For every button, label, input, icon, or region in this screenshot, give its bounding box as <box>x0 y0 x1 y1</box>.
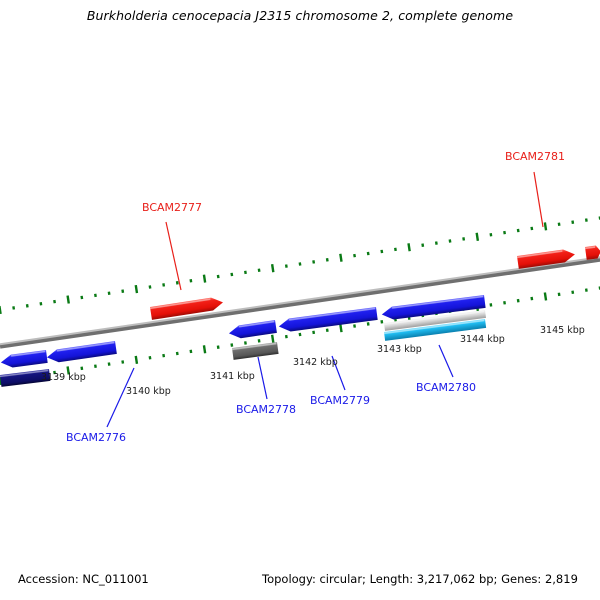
tick-minor <box>353 254 356 258</box>
gene-arrow-blue-bcam2778[interactable] <box>228 320 277 340</box>
tick-major <box>135 285 139 293</box>
gene-arrow-blue-bcam2776b[interactable] <box>46 341 117 364</box>
tick-major <box>135 356 139 364</box>
gene-label-bcam2778[interactable]: BCAM2778 <box>236 403 296 416</box>
tick-major <box>203 345 207 353</box>
gene-label-bcam2777[interactable]: BCAM2777 <box>142 201 202 214</box>
tick-minor <box>176 352 179 356</box>
tick-minor <box>26 304 29 308</box>
tick-minor <box>312 331 315 335</box>
gene-label-bcam2780[interactable]: BCAM2780 <box>416 381 476 394</box>
tick-major <box>66 295 70 303</box>
tick-major <box>203 275 207 283</box>
tick-minor <box>121 289 124 293</box>
tick-minor <box>558 223 561 227</box>
tick-minor <box>189 279 192 283</box>
tick-minor <box>258 269 261 273</box>
tick-major <box>271 264 275 272</box>
tick-minor <box>585 288 588 292</box>
tick-minor <box>39 302 42 306</box>
gene-arrow-red-partial[interactable] <box>585 245 600 260</box>
leader-line-bcam2778 <box>258 357 267 399</box>
tick-minor <box>299 262 302 266</box>
tick-minor <box>285 264 288 268</box>
tick-minor <box>312 260 315 264</box>
tick-minor <box>503 301 506 305</box>
tick-minor <box>517 299 520 303</box>
tick-minor <box>326 329 329 333</box>
gene-arrow-blue-bcam2776a[interactable] <box>0 350 48 369</box>
tick-minor <box>394 248 397 252</box>
coord-label-3141: 3141 kbp <box>210 371 255 382</box>
tick-major <box>544 292 548 300</box>
coord-label-3139: 3139 kbp <box>41 372 86 383</box>
gene-label-bcam2779[interactable]: BCAM2779 <box>310 394 370 407</box>
tick-minor <box>162 354 165 358</box>
tick-minor <box>121 360 124 364</box>
tick-minor <box>558 293 561 297</box>
tick-minor <box>149 285 152 289</box>
genome-stats-text: Topology: circular; Length: 3,217,062 bp… <box>262 572 578 586</box>
tick-minor <box>189 350 192 354</box>
tick-minor <box>94 364 97 368</box>
tick-minor <box>462 237 465 241</box>
tick-minor <box>230 273 233 277</box>
tick-minor <box>517 229 520 233</box>
tick-minor <box>53 300 56 304</box>
gene-label-layer[interactable]: BCAM2776BCAM2777BCAM2778BCAM2779BCAM2780… <box>66 150 565 444</box>
genome-track-canvas[interactable]: 3139 kbp3140 kbp3141 kbp3142 kbp3143 kbp… <box>0 0 600 600</box>
tick-minor <box>244 341 247 345</box>
tick-minor <box>326 258 329 262</box>
gene-bar-gray-bcam2778[interactable] <box>232 342 279 360</box>
tick-major <box>339 324 343 332</box>
tick-minor <box>530 297 533 301</box>
tick-minor <box>530 227 533 231</box>
tick-major <box>0 306 2 314</box>
leader-line-bcam2776 <box>107 368 134 427</box>
tick-minor <box>421 243 424 247</box>
tick-minor <box>162 283 165 287</box>
tick-minor <box>12 306 15 310</box>
tick-minor <box>258 339 261 343</box>
leader-line-bcam2777 <box>166 222 181 290</box>
gene-label-bcam2781[interactable]: BCAM2781 <box>505 150 565 163</box>
tick-minor <box>367 322 370 326</box>
tick-major <box>407 243 411 251</box>
accession-text: Accession: NC_011001 <box>18 572 149 586</box>
tick-minor <box>503 231 506 235</box>
tick-minor <box>367 252 370 256</box>
tick-minor <box>571 220 574 224</box>
tick-minor <box>80 367 83 371</box>
tick-minor <box>353 324 356 328</box>
coord-label-3140: 3140 kbp <box>126 386 171 397</box>
tick-minor <box>489 303 492 307</box>
gene-label-bcam2776[interactable]: BCAM2776 <box>66 431 126 444</box>
coord-label-3144: 3144 kbp <box>460 334 505 345</box>
tick-minor <box>299 333 302 337</box>
tick-minor <box>94 294 97 298</box>
tick-minor <box>435 241 438 245</box>
genome-backbone-line[interactable] <box>0 257 600 346</box>
genome-viewer-window: Burkholderia cenocepacia J2315 chromosom… <box>0 0 600 600</box>
tick-minor <box>230 343 233 347</box>
tick-minor <box>489 233 492 237</box>
tick-minor <box>108 292 111 296</box>
tick-minor <box>244 271 247 275</box>
tick-major <box>544 222 548 230</box>
tick-minor <box>217 345 220 349</box>
leader-line-bcam2781 <box>534 172 543 227</box>
tick-major <box>475 233 479 241</box>
tick-minor <box>571 290 574 294</box>
tick-minor <box>380 250 383 254</box>
tick-minor <box>380 320 383 324</box>
tick-minor <box>176 281 179 285</box>
leader-line-bcam2780 <box>439 345 453 377</box>
tick-minor <box>108 362 111 366</box>
coord-label-3142: 3142 kbp <box>293 357 338 368</box>
tick-minor <box>585 218 588 222</box>
tick-minor <box>285 335 288 339</box>
tick-major <box>271 335 275 343</box>
coord-label-3145: 3145 kbp <box>540 325 585 336</box>
coord-label-3143: 3143 kbp <box>377 344 422 355</box>
tick-minor <box>149 356 152 360</box>
tick-minor <box>449 239 452 243</box>
tick-major <box>339 254 343 262</box>
tick-minor <box>217 275 220 279</box>
tick-minor <box>80 296 83 300</box>
